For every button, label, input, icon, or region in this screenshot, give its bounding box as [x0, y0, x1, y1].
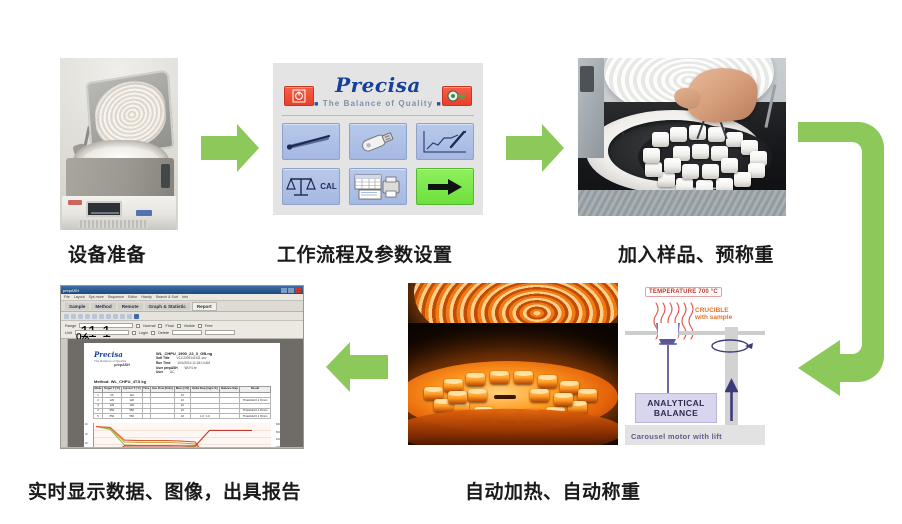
- brand-stripe-red: [68, 200, 82, 205]
- cell: 5: [94, 413, 103, 418]
- tab-method[interactable]: Method: [91, 303, 115, 310]
- arrow-right-icon: [426, 177, 464, 197]
- checkbox-free[interactable]: [198, 324, 202, 328]
- toolbar-icon-export[interactable]: [134, 314, 139, 319]
- meta-value-0: VCC2009141911.csv: [176, 356, 206, 360]
- y-tick: 30: [85, 433, 94, 436]
- power-button[interactable]: [284, 86, 314, 106]
- crucible: [734, 172, 751, 187]
- crucible: [645, 162, 662, 177]
- crucible: [721, 158, 738, 173]
- checkbox-login-label: Login: [139, 331, 148, 335]
- checkbox-delete-label: Delete: [158, 331, 169, 335]
- method-value: WL_CHPU_4T.5 kg: [111, 379, 146, 384]
- checkbox-login[interactable]: [132, 331, 136, 335]
- minimize-button[interactable]: [281, 288, 287, 293]
- graph-pen-icon: [420, 129, 470, 155]
- crucible-hot: [448, 391, 467, 404]
- tab-remote[interactable]: Remote: [118, 303, 143, 310]
- key-cal-label: CAL: [320, 182, 336, 191]
- balance-icon: [285, 176, 317, 198]
- status-bar: Current Page: 1 Total Pages: 4 Connectio…: [61, 447, 303, 449]
- crucible-hot: [468, 389, 487, 402]
- y2-tick: 400: [276, 438, 280, 441]
- menu-item-editor[interactable]: Editor: [128, 295, 137, 299]
- report-meta-block: WL_CHPU_1900_22_3_GB.ng Soft Title VCC20…: [156, 351, 272, 375]
- meta-label-0: Soft Title: [156, 356, 170, 360]
- caption-step-5: 实时显示数据、图像，出具报告: [28, 477, 301, 504]
- rotation-arrow-icon: [709, 337, 755, 355]
- table-printer-icon: [353, 173, 403, 201]
- key-cal-balance[interactable]: CAL: [282, 168, 340, 205]
- arrow-step4-to-step5: [322, 340, 390, 394]
- meta-label-3: User: [156, 370, 163, 374]
- report-meta-row: User AC: [156, 370, 272, 375]
- toolbar-icon-next-page[interactable]: [120, 314, 125, 319]
- window-controls[interactable]: [281, 288, 301, 293]
- checkbox-normal-label: Normal: [143, 324, 155, 328]
- toolbar-icon-open[interactable]: [71, 314, 76, 319]
- cell: 1.0 : 1.0: [190, 413, 219, 418]
- toolbar-icon-prev-page[interactable]: [113, 314, 118, 319]
- balance-stem: [667, 345, 669, 395]
- cell: 550: [102, 413, 121, 418]
- tab-report[interactable]: Report: [192, 302, 217, 311]
- meta-label-2: User prepASH: [156, 366, 178, 370]
- wall-vent-icon: [580, 66, 594, 92]
- cell: [142, 413, 150, 418]
- arrow-step3-to-step4: [794, 118, 896, 400]
- maximize-button[interactable]: [288, 288, 294, 293]
- crucible-hot: [514, 371, 533, 384]
- analytical-balance-box: ANALYTICAL BALANCE: [635, 393, 717, 423]
- toolbar[interactable]: [61, 312, 303, 321]
- balance-label-line1: ANALYTICAL: [647, 398, 705, 408]
- analytical-balance-label: ANALYTICAL BALANCE: [647, 398, 705, 418]
- report-logo: Precisa: [94, 351, 150, 359]
- menu-item-sysmore[interactable]: Sys more: [89, 295, 104, 299]
- crucible-label: CRUCIBLE with sample: [695, 307, 753, 322]
- furnace-rim: [408, 409, 618, 445]
- reference-pin: [622, 132, 624, 158]
- menu-item-info[interactable]: Info: [182, 295, 188, 299]
- filter-extra-input-2[interactable]: [205, 330, 235, 335]
- crucible-hot: [538, 375, 557, 388]
- software-window: prepASH File Layout Sys more Sequence Ed…: [60, 285, 304, 449]
- cell: 550: [121, 413, 142, 418]
- meta-value-2: WLF/Lhr: [185, 366, 197, 370]
- key-tweezers[interactable]: [282, 123, 340, 160]
- key-graph-pen[interactable]: [416, 123, 474, 160]
- crucible: [652, 132, 669, 147]
- menu-item-file[interactable]: File: [64, 295, 70, 299]
- crucible: [643, 148, 660, 163]
- toolbar-icon-zoom-out[interactable]: [99, 314, 104, 319]
- crucible: [664, 158, 681, 173]
- report-preview-area[interactable]: Precisa The Balance of Quality prepASH W…: [61, 339, 303, 447]
- meta-value-1: 10/4/2014 11:18:14 AM: [177, 361, 210, 365]
- tagline-bullet-left: ■: [314, 101, 319, 108]
- meta-value-3: AC: [170, 370, 174, 374]
- toolbar-icon-first-page[interactable]: [106, 314, 111, 319]
- table-row: 5 550 550 10 1.0 : 1.0 Threshold 0.1 %/m…: [94, 413, 271, 418]
- instrument-display: [86, 201, 122, 217]
- crucible-hot: [466, 373, 485, 386]
- power-icon: [293, 90, 306, 103]
- menu-item-searchsort[interactable]: Search & Sort: [156, 295, 178, 299]
- y-tick: 20: [85, 442, 94, 445]
- cell: [220, 413, 240, 418]
- crucible: [682, 164, 699, 179]
- panel-terminal: Precisa ■ The Balance of Quality ■: [273, 63, 483, 215]
- checkbox-final-label: Final: [165, 324, 173, 328]
- menu-item-sequence[interactable]: Sequence: [108, 295, 124, 299]
- photo-loading: [578, 58, 786, 216]
- key-table-printer[interactable]: [349, 168, 407, 205]
- cell: Threshold 0.1 %/min: [240, 413, 271, 418]
- checkbox-final[interactable]: [158, 324, 162, 328]
- sample-in-crucible: [659, 339, 676, 344]
- tweezers-icon: [285, 132, 337, 152]
- report-page: Precisa The Balance of Quality prepASH W…: [84, 343, 280, 447]
- chart-plot-area: [94, 423, 254, 447]
- tab-bar[interactable]: Sample Method Remote Graph & Statistic R…: [61, 301, 303, 312]
- checkbox-visible[interactable]: [177, 324, 181, 328]
- filter-range-label: Range: [65, 324, 76, 328]
- filter-unit-label: Unit: [65, 331, 72, 335]
- preview-left-gutter: [61, 339, 68, 447]
- brand-logo-blue: [136, 210, 152, 216]
- filter-extra-input-1[interactable]: [172, 330, 202, 335]
- key-icon: [447, 90, 467, 102]
- cell: 10: [175, 413, 191, 418]
- y2-tick: 600: [276, 423, 280, 426]
- close-button[interactable]: [295, 288, 301, 293]
- window-title: prepASH: [63, 288, 79, 293]
- filter-row-range[interactable]: Range 11-1-2013 - 1-3-2014 Normal Final …: [65, 323, 299, 328]
- report-table: Mode Target T [°C] Current T [°C] Time G…: [93, 386, 271, 419]
- y-tick: 40: [85, 423, 94, 426]
- tab-graph-statistic[interactable]: Graph & Statistic: [145, 303, 190, 310]
- crucible: [702, 164, 719, 179]
- balance-label-line2: BALANCE: [647, 408, 705, 418]
- photo-furnace-glow: [408, 283, 618, 445]
- caption-step-3: 加入样品、预称重: [618, 240, 774, 267]
- method-label: Method:: [94, 379, 110, 384]
- chart-y-axis-left: 40 30 20 10 0: [85, 423, 94, 447]
- filter-bar[interactable]: Range 11-1-2013 - 1-3-2014 Normal Final …: [61, 321, 303, 339]
- key-usb-stick[interactable]: [349, 123, 407, 160]
- cell: [150, 413, 174, 418]
- chart-y-axis-right: 600 500 400 300 200 100: [271, 423, 280, 447]
- checkbox-delete[interactable]: [151, 331, 155, 335]
- tagline-text: The Balance of Quality: [323, 99, 433, 108]
- lock-button[interactable]: [442, 86, 472, 106]
- toolbar-icon-last-page[interactable]: [127, 314, 132, 319]
- y2-tick: 300: [276, 446, 280, 447]
- report-chart: 40 30 20 10 0 600 500 400 300 200 100: [93, 423, 271, 447]
- y2-tick: 500: [276, 431, 280, 434]
- lift-up-arrow-icon: [725, 371, 738, 421]
- menu-bar[interactable]: File Layout Sys more Sequence Editor Han…: [61, 294, 303, 301]
- diagram-analytical-balance: TEMPERATURE 700 °C CRUCIBLE with sample …: [625, 283, 765, 445]
- window-titlebar[interactable]: prepASH: [61, 286, 303, 294]
- filter-unit-input[interactable]: %: [75, 330, 129, 335]
- report-logo-block: Precisa The Balance of Quality prepASH: [94, 351, 150, 375]
- crucible: [670, 127, 687, 142]
- meta-label-1: Run Time: [156, 361, 170, 365]
- checkbox-normal[interactable]: [136, 324, 140, 328]
- furnace-floor-plate: [625, 331, 765, 335]
- filter-range-input[interactable]: 11-1-2013 - 1-3-2014: [79, 323, 133, 328]
- toolbar-icon-zoom-in[interactable]: [92, 314, 97, 319]
- crucible-label-line2: with sample: [695, 314, 753, 321]
- center-slot: [494, 395, 516, 399]
- temperature-label: TEMPERATURE 700 °C: [645, 287, 722, 297]
- photo-instrument: [60, 58, 178, 230]
- toolbar-icon-print[interactable]: [85, 314, 90, 319]
- usb-stick-icon: [356, 129, 400, 155]
- menu-item-handy[interactable]: Handy: [141, 295, 151, 299]
- crucible-hot: [490, 371, 509, 384]
- report-header: Precisa The Balance of Quality prepASH W…: [84, 343, 280, 377]
- crucible-hot: [554, 393, 573, 406]
- crucible: [692, 144, 709, 159]
- tab-sample[interactable]: Sample: [65, 303, 89, 310]
- crucible-hot: [530, 389, 549, 402]
- slide-canvas: Precisa ■ The Balance of Quality ■: [0, 0, 902, 524]
- side-vent-icon: [161, 164, 170, 188]
- menu-item-layout[interactable]: Layout: [74, 295, 85, 299]
- toolbar-icon-save[interactable]: [78, 314, 83, 319]
- terminal-keypad: CAL: [282, 123, 474, 205]
- panel-divider: [282, 115, 474, 116]
- key-start-arrow[interactable]: [416, 168, 474, 205]
- arrow-step2-to-step3: [504, 122, 566, 174]
- carousel-motor-label: Carousel motor with lift: [631, 432, 722, 441]
- report-logo-model: prepASH: [94, 363, 150, 367]
- instrument-front-panel: [578, 190, 786, 216]
- caption-step-2: 工作流程及参数设置: [277, 240, 453, 267]
- caption-step-1: 设备准备: [68, 240, 146, 267]
- crucible-label-line1: CRUCIBLE: [695, 307, 753, 314]
- checkbox-free-label: Free: [205, 324, 213, 328]
- report-method-line: Method: WL_CHPU_4T.5 kg: [84, 377, 280, 386]
- base-vent-grille: [78, 220, 148, 228]
- caption-step-4: 自动加热、自动称重: [465, 477, 641, 504]
- filter-row-unit[interactable]: Unit % Login Delete: [65, 330, 299, 335]
- checkbox-visible-label: Visible: [184, 324, 195, 328]
- arrow-step1-to-step2: [199, 122, 261, 174]
- toolbar-icon-new[interactable]: [64, 314, 69, 319]
